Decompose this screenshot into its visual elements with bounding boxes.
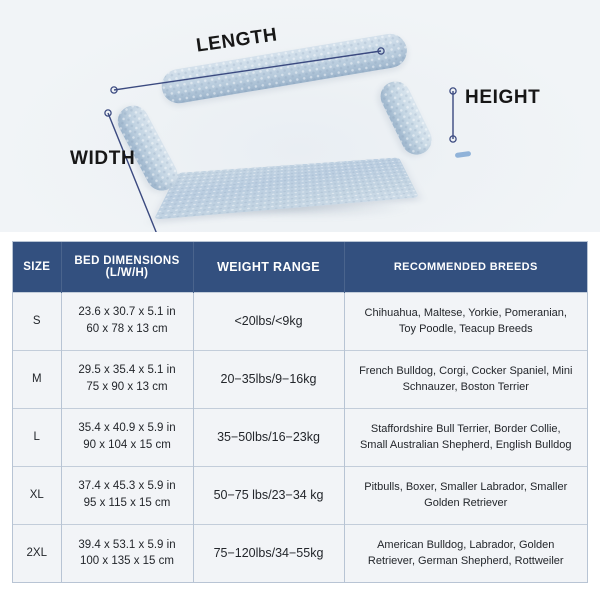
width-label: WIDTH [70, 148, 135, 170]
column-header-recommended-breeds-label: RECOMMENDED BREEDS [394, 261, 538, 273]
column-header-size: SIZE [13, 242, 61, 292]
dimension-callout-lines [0, 0, 600, 232]
table-header-row: SIZE BED DIMENSIONS (L/W/H) WEIGHT RANGE… [13, 242, 587, 292]
cell-weight-range: 20−35lbs/9−16kg [193, 350, 344, 408]
cell-dimensions-inches: 37.4 x 45.3 x 5.9 in [70, 478, 185, 495]
cell-weight-range: <20lbs/<9kg [193, 292, 344, 350]
cell-bed-dimensions: 29.5 x 35.4 x 5.1 in 75 x 90 x 13 cm [61, 350, 193, 408]
size-guide-page: LENGTH HEIGHT WIDTH SIZE BED DIMENSIONS … [0, 0, 600, 600]
table-header: SIZE BED DIMENSIONS (L/W/H) WEIGHT RANGE… [13, 242, 587, 292]
cell-dimensions-cm: 75 x 90 x 13 cm [70, 379, 185, 396]
height-callout-line [450, 88, 456, 142]
cell-dimensions-cm: 100 x 135 x 15 cm [70, 553, 185, 570]
cell-recommended-breeds: Pitbulls, Boxer, Smaller Labrador, Small… [344, 466, 587, 524]
cell-size: M [13, 350, 61, 408]
cell-weight-range: 35−50lbs/16−23kg [193, 408, 344, 466]
length-callout-line [111, 48, 384, 93]
column-header-weight-range: WEIGHT RANGE [193, 242, 344, 292]
cell-size: L [13, 408, 61, 466]
cell-recommended-breeds: French Bulldog, Corgi, Cocker Spaniel, M… [344, 350, 587, 408]
column-header-bed-dimensions-sub: (L/W/H) [66, 267, 189, 279]
cell-weight-range: 75−120lbs/34−55kg [193, 524, 344, 582]
cell-dimensions-cm: 90 x 104 x 15 cm [70, 437, 185, 454]
cell-dimensions-cm: 95 x 115 x 15 cm [70, 495, 185, 512]
cell-dimensions-inches: 29.5 x 35.4 x 5.1 in [70, 362, 185, 379]
size-chart-table: SIZE BED DIMENSIONS (L/W/H) WEIGHT RANGE… [13, 242, 587, 582]
table-body: S 23.6 x 30.7 x 5.1 in 60 x 78 x 13 cm <… [13, 292, 587, 582]
column-header-size-label: SIZE [23, 261, 50, 273]
column-header-recommended-breeds: RECOMMENDED BREEDS [344, 242, 587, 292]
cell-size: S [13, 292, 61, 350]
table-row: L 35.4 x 40.9 x 5.9 in 90 x 104 x 15 cm … [13, 408, 587, 466]
table-row: S 23.6 x 30.7 x 5.1 in 60 x 78 x 13 cm <… [13, 292, 587, 350]
cell-weight-range: 50−75 lbs/23−34 kg [193, 466, 344, 524]
size-chart-table-container: SIZE BED DIMENSIONS (L/W/H) WEIGHT RANGE… [12, 241, 588, 583]
cell-dimensions-inches: 35.4 x 40.9 x 5.9 in [70, 420, 185, 437]
width-callout-line [105, 110, 170, 232]
cell-recommended-breeds: American Bulldog, Labrador, Golden Retri… [344, 524, 587, 582]
table-row: XL 37.4 x 45.3 x 5.9 in 95 x 115 x 15 cm… [13, 466, 587, 524]
cell-recommended-breeds: Staffordshire Bull Terrier, Border Colli… [344, 408, 587, 466]
column-header-bed-dimensions-label: BED DIMENSIONS [74, 255, 179, 267]
table-row: 2XL 39.4 x 53.1 x 5.9 in 100 x 135 x 15 … [13, 524, 587, 582]
table-row: M 29.5 x 35.4 x 5.1 in 75 x 90 x 13 cm 2… [13, 350, 587, 408]
cell-bed-dimensions: 37.4 x 45.3 x 5.9 in 95 x 115 x 15 cm [61, 466, 193, 524]
cell-bed-dimensions: 39.4 x 53.1 x 5.9 in 100 x 135 x 15 cm [61, 524, 193, 582]
cell-size: XL [13, 466, 61, 524]
column-header-weight-range-label: WEIGHT RANGE [217, 260, 320, 274]
cell-recommended-breeds: Chihuahua, Maltese, Yorkie, Pomeranian, … [344, 292, 587, 350]
cell-dimensions-inches: 23.6 x 30.7 x 5.1 in [70, 304, 185, 321]
cell-bed-dimensions: 23.6 x 30.7 x 5.1 in 60 x 78 x 13 cm [61, 292, 193, 350]
cell-dimensions-inches: 39.4 x 53.1 x 5.9 in [70, 537, 185, 554]
cell-dimensions-cm: 60 x 78 x 13 cm [70, 321, 185, 338]
cell-bed-dimensions: 35.4 x 40.9 x 5.9 in 90 x 104 x 15 cm [61, 408, 193, 466]
product-hero: LENGTH HEIGHT WIDTH [0, 0, 600, 232]
column-header-bed-dimensions: BED DIMENSIONS (L/W/H) [61, 242, 193, 292]
cell-size: 2XL [13, 524, 61, 582]
height-label: HEIGHT [465, 87, 540, 109]
